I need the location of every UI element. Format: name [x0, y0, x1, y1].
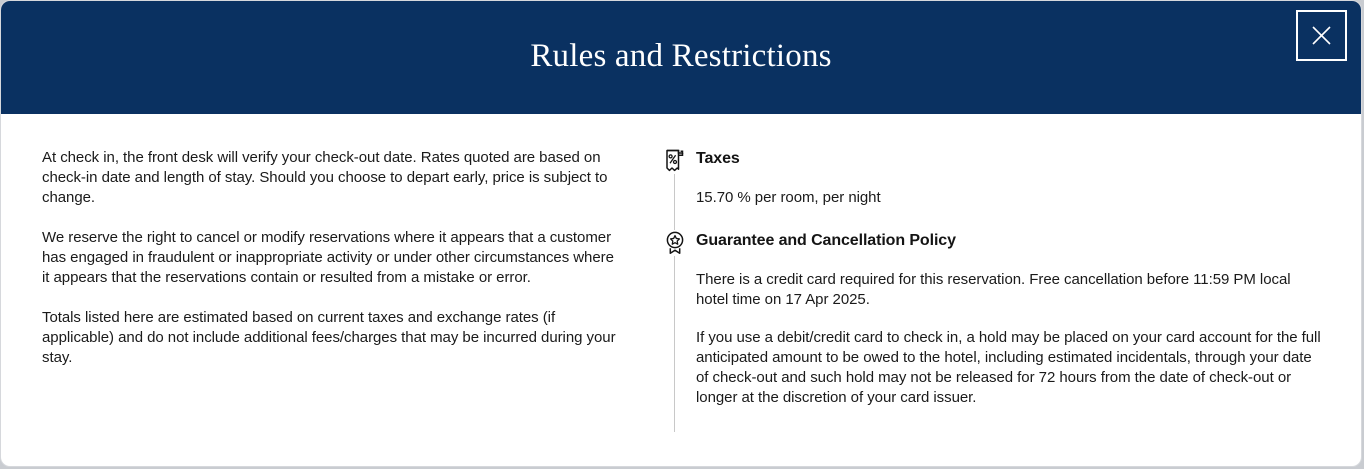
- card-hold-policy-text: If you use a debit/credit card to check …: [696, 328, 1321, 408]
- policy-details-column: Taxes 15.70 % per room, per night: [654, 148, 1321, 432]
- policy-heading-taxes: Taxes: [696, 148, 1321, 170]
- terms-paragraph: At check in, the front desk will verify …: [42, 148, 624, 208]
- policy-section-taxes: Taxes 15.70 % per room, per night: [662, 148, 1321, 230]
- terms-paragraph: Totals listed here are estimated based o…: [42, 308, 624, 368]
- modal-body: At check in, the front desk will verify …: [1, 114, 1361, 432]
- policy-content: Guarantee and Cancellation Policy There …: [696, 230, 1321, 432]
- policy-rail: [662, 148, 696, 230]
- modal-header: Rules and Restrictions: [1, 1, 1361, 114]
- receipt-percent-icon: [663, 148, 687, 174]
- close-icon: [1309, 23, 1334, 48]
- general-terms-column: At check in, the front desk will verify …: [42, 148, 654, 432]
- rules-and-restrictions-modal: Rules and Restrictions At check in, the …: [0, 0, 1362, 467]
- policy-content: Taxes 15.70 % per room, per night: [696, 148, 1321, 230]
- close-button[interactable]: [1296, 10, 1347, 61]
- policy-section-guarantee-cancellation: Guarantee and Cancellation Policy There …: [662, 230, 1321, 432]
- page-title: Rules and Restrictions: [530, 40, 831, 75]
- terms-paragraph: We reserve the right to cancel or modify…: [42, 228, 624, 288]
- tax-rate-text: 15.70 % per room, per night: [696, 188, 1321, 208]
- policy-rail-line: [674, 256, 675, 432]
- policy-rail-line: [674, 174, 675, 230]
- policy-rail: [662, 230, 696, 432]
- policy-heading-guarantee-cancellation: Guarantee and Cancellation Policy: [696, 230, 1321, 252]
- cancellation-policy-text: There is a credit card required for this…: [696, 270, 1321, 310]
- award-badge-icon: [663, 230, 687, 256]
